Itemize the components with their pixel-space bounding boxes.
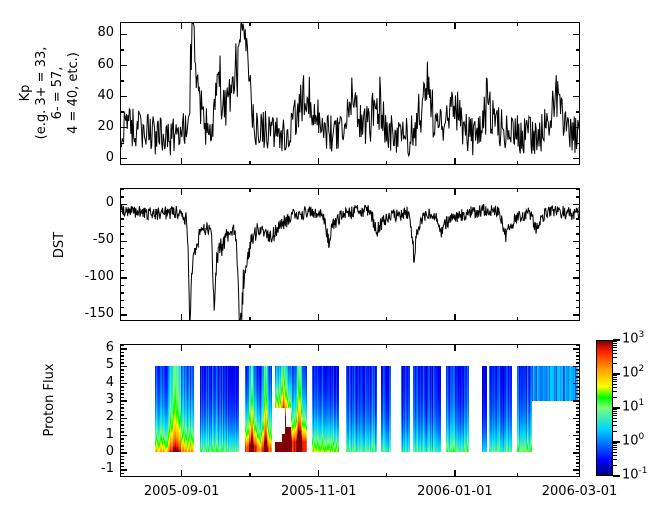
y-tick-label: 0 (66, 195, 114, 210)
x-tick-minor (386, 22, 387, 26)
dst-panel-ylabel-text: DST (52, 170, 68, 320)
x-tick-major (454, 158, 455, 165)
x-tick-major (181, 470, 182, 477)
colorbar-tick-minor (613, 413, 617, 414)
y-tick-major (573, 383, 580, 384)
y-tick-minor (120, 218, 124, 219)
y-tick-minor (576, 411, 580, 412)
y-tick-major (120, 469, 127, 470)
y-tick-major (120, 241, 127, 242)
y-tick-major (573, 277, 580, 278)
colorbar-tick-minor (613, 345, 617, 346)
colorbar-tick-minor (613, 418, 617, 419)
y-tick-label: -150 (66, 306, 114, 321)
colorbar-tick-minor (613, 443, 617, 444)
y-tick-minor (120, 449, 124, 450)
x-tick-major (181, 22, 182, 29)
figure-root: 020406080 Kp(e.g. 3+ = 33,6- = 57,4 = 40… (0, 0, 665, 523)
y-tick-minor (576, 390, 580, 391)
x-tick-major (318, 470, 319, 477)
x-tick-major (579, 314, 580, 321)
y-tick-minor (120, 428, 124, 429)
y-tick-minor (576, 414, 580, 415)
colorbar-tick-minor (613, 431, 617, 432)
y-tick-minor (120, 407, 124, 408)
x-tick-minor (386, 317, 387, 321)
y-tick-major (120, 400, 127, 401)
y-tick-minor (576, 431, 580, 432)
x-tick-major (579, 344, 580, 351)
y-tick-minor (576, 466, 580, 467)
x-tick-major (454, 22, 455, 29)
y-tick-minor (120, 233, 124, 234)
colorbar-tick-label: 100 (622, 432, 644, 448)
y-tick-minor (576, 421, 580, 422)
y-tick-minor (576, 442, 580, 443)
y-tick-major (573, 400, 580, 401)
y-tick-minor (576, 404, 580, 405)
y-tick-minor (120, 307, 124, 308)
colorbar-tick-minor (613, 347, 617, 348)
x-tick-major (579, 188, 580, 195)
x-tick-minor (249, 188, 250, 192)
y-tick-label: 4 (66, 375, 114, 390)
y-tick-minor (120, 376, 124, 377)
colorbar-tick-minor (613, 341, 617, 342)
y-tick-minor (120, 414, 124, 415)
y-tick-label: 1 (66, 427, 114, 442)
x-tick-minor (386, 344, 387, 348)
x-tick-minor (517, 188, 518, 192)
colorbar-tick-minor (613, 425, 617, 426)
y-tick-minor (120, 380, 124, 381)
y-tick-major (120, 314, 127, 315)
y-tick-minor (576, 211, 580, 212)
x-tick-minor (517, 317, 518, 321)
colorbar-tick-minor (613, 445, 617, 446)
y-tick-major (573, 435, 580, 436)
y-tick-minor (576, 307, 580, 308)
x-tick-major (318, 314, 319, 321)
y-tick-major (573, 241, 580, 242)
y-tick-minor (120, 411, 124, 412)
x-tick-major (181, 158, 182, 165)
y-tick-minor (576, 196, 580, 197)
colorbar-tick-label: 10-1 (622, 466, 648, 482)
x-tick-major (318, 22, 319, 29)
proton-flux-panel-ylabel-text: Proton Flux (42, 325, 58, 475)
y-tick-minor (576, 428, 580, 429)
y-tick-major (120, 383, 127, 384)
x-tick-minor (517, 473, 518, 477)
y-tick-minor (120, 345, 124, 346)
x-tick-major (181, 314, 182, 321)
y-tick-label: -100 (66, 269, 114, 284)
y-tick-minor (576, 355, 580, 356)
colorbar-tick-minor (613, 353, 617, 354)
y-tick-label: -50 (66, 232, 114, 247)
y-tick-minor (120, 300, 124, 301)
x-tick-major (579, 22, 580, 29)
y-tick-minor (576, 359, 580, 360)
x-tick-major (454, 470, 455, 477)
y-tick-minor (120, 473, 124, 474)
y-tick-minor (576, 352, 580, 353)
colorbar-tick-minor (613, 455, 617, 456)
y-tick-minor (576, 380, 580, 381)
colorbar-tick-minor (613, 409, 617, 410)
colorbar-tick-minor (613, 415, 617, 416)
x-tick-major (318, 158, 319, 165)
x-tick-minor (386, 188, 387, 192)
y-tick-minor (576, 233, 580, 234)
y-tick-minor (120, 424, 124, 425)
colorbar-tick-minor (613, 449, 617, 450)
colorbar-gradient (596, 340, 613, 476)
x-tick-major (181, 344, 182, 351)
y-tick-minor (120, 292, 124, 293)
y-tick-minor (120, 466, 124, 467)
colorbar-tick-label: 101 (622, 398, 644, 414)
colorbar-tick-minor (613, 375, 617, 376)
y-tick-minor (576, 397, 580, 398)
colorbar-tick-minor (613, 384, 617, 385)
y-tick-minor (120, 248, 124, 249)
y-tick-major (120, 435, 127, 436)
y-tick-minor (576, 285, 580, 286)
y-tick-major (120, 277, 127, 278)
colorbar-tick-minor (613, 381, 617, 382)
y-tick-label: 0 (66, 444, 114, 459)
y-tick-label: 3 (66, 392, 114, 407)
colorbar-tick-major (613, 475, 620, 476)
x-tick-label: 2005-09-01 (122, 484, 242, 499)
colorbar-tick-minor (613, 459, 617, 460)
x-tick-minor (249, 161, 250, 165)
x-tick-major (318, 188, 319, 195)
colorbar-tick-minor (613, 397, 617, 398)
colorbar-tick-minor (613, 387, 617, 388)
y-tick-minor (120, 390, 124, 391)
y-tick-minor (576, 449, 580, 450)
y-tick-major (573, 452, 580, 453)
colorbar-tick-minor (613, 343, 617, 344)
colorbar-tick-label: 103 (622, 330, 644, 346)
y-tick-minor (120, 226, 124, 227)
y-tick-minor (576, 255, 580, 256)
y-tick-minor (576, 459, 580, 460)
y-tick-major (573, 204, 580, 205)
y-tick-minor (576, 376, 580, 377)
x-tick-label: 2006-03-01 (520, 484, 640, 499)
x-tick-label: 2006-01-01 (395, 484, 515, 499)
y-tick-minor (120, 404, 124, 405)
y-tick-label: 6 (66, 340, 114, 355)
y-tick-minor (120, 270, 124, 271)
y-tick-minor (576, 270, 580, 271)
y-tick-major (573, 418, 580, 419)
x-tick-minor (249, 344, 250, 348)
y-tick-minor (120, 431, 124, 432)
y-tick-minor (120, 263, 124, 264)
colorbar-tick-label: 102 (622, 364, 644, 380)
y-tick-major (120, 366, 127, 367)
x-tick-minor (249, 317, 250, 321)
y-tick-minor (120, 352, 124, 353)
colorbar-tick-minor (613, 377, 617, 378)
colorbar-tick-minor (613, 357, 617, 358)
y-tick-label: 2 (66, 409, 114, 424)
colorbar-tick-minor (613, 452, 617, 453)
y-tick-minor (576, 445, 580, 446)
y-tick-minor (120, 255, 124, 256)
y-tick-minor (120, 393, 124, 394)
x-tick-minor (517, 161, 518, 165)
y-tick-minor (120, 362, 124, 363)
y-tick-major (120, 452, 127, 453)
colorbar-tick-minor (613, 379, 617, 380)
flux-colorbar: 10-1100101102103 (596, 340, 656, 480)
x-tick-label: 2005-11-01 (259, 484, 379, 499)
x-tick-major (454, 344, 455, 351)
x-tick-major (579, 470, 580, 477)
y-tick-minor (120, 459, 124, 460)
y-tick-major (120, 204, 127, 205)
y-tick-minor (120, 442, 124, 443)
x-tick-major (318, 344, 319, 351)
x-tick-major (579, 158, 580, 165)
y-tick-major (573, 366, 580, 367)
y-tick-minor (576, 369, 580, 370)
y-tick-label: 5 (66, 357, 114, 372)
y-tick-minor (120, 386, 124, 387)
y-tick-major (120, 418, 127, 419)
y-tick-minor (576, 218, 580, 219)
x-tick-major (454, 314, 455, 321)
y-tick-minor (576, 226, 580, 227)
y-tick-minor (120, 445, 124, 446)
y-tick-major (120, 348, 127, 349)
x-tick-minor (517, 22, 518, 26)
x-tick-minor (249, 473, 250, 477)
y-tick-minor (120, 397, 124, 398)
y-tick-minor (576, 456, 580, 457)
colorbar-tick-minor (613, 421, 617, 422)
x-tick-minor (517, 344, 518, 348)
colorbar-tick-minor (613, 465, 617, 466)
y-tick-minor (576, 263, 580, 264)
y-tick-minor (120, 355, 124, 356)
y-tick-minor (120, 196, 124, 197)
colorbar-tick-minor (613, 350, 617, 351)
y-tick-minor (576, 393, 580, 394)
y-tick-minor (120, 369, 124, 370)
y-tick-minor (576, 373, 580, 374)
y-tick-minor (120, 438, 124, 439)
colorbar-tick-minor (613, 447, 617, 448)
y-tick-minor (576, 248, 580, 249)
y-tick-minor (120, 285, 124, 286)
y-tick-minor (576, 300, 580, 301)
y-tick-minor (576, 292, 580, 293)
y-tick-minor (576, 407, 580, 408)
x-tick-major (454, 188, 455, 195)
y-tick-minor (576, 362, 580, 363)
x-tick-minor (386, 161, 387, 165)
y-tick-label: -1 (66, 461, 114, 476)
colorbar-tick-minor (613, 411, 617, 412)
y-tick-minor (120, 373, 124, 374)
y-tick-minor (576, 386, 580, 387)
proton-flux-spectrogram (121, 345, 578, 475)
y-tick-minor (120, 189, 124, 190)
x-tick-minor (249, 22, 250, 26)
y-tick-minor (576, 438, 580, 439)
y-tick-minor (120, 359, 124, 360)
colorbar-tick-minor (613, 391, 617, 392)
y-tick-minor (120, 211, 124, 212)
colorbar-tick-minor (613, 363, 617, 364)
y-tick-minor (120, 462, 124, 463)
x-tick-major (181, 188, 182, 195)
y-tick-minor (576, 424, 580, 425)
y-tick-minor (576, 462, 580, 463)
x-tick-minor (386, 473, 387, 477)
y-tick-minor (120, 421, 124, 422)
y-tick-minor (120, 456, 124, 457)
